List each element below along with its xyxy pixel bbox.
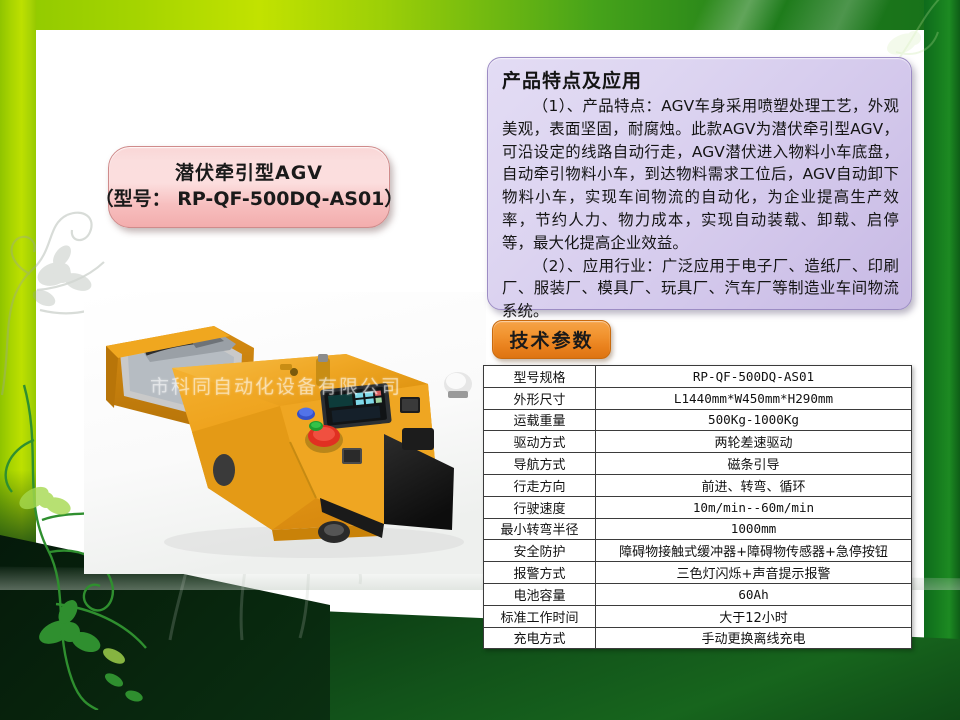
- spec-table-row: 电池容量60Ah: [484, 583, 912, 605]
- photo-watermark: 市科同自动化设备有限公司: [150, 372, 490, 398]
- spec-key-cell: 报警方式: [484, 562, 596, 584]
- spec-key-cell: 导航方式: [484, 453, 596, 475]
- spec-table: 型号规格RP-QF-500DQ-AS01外形尺寸L1440mm*W450mm*H…: [483, 365, 912, 649]
- spec-value-cell: 障碍物接触式缓冲器+障碍物传感器+急停按钮: [596, 540, 912, 562]
- spec-table-row: 驱动方式两轮差速驱动: [484, 431, 912, 453]
- slide-canvas: 潜伏牵引型AGV （型号： RP-QF-500DQ-AS01）: [0, 0, 960, 720]
- spec-value-cell: 两轮差速驱动: [596, 431, 912, 453]
- spec-value-cell: 10m/min--60m/min: [596, 496, 912, 518]
- spec-key-cell: 充电方式: [484, 627, 596, 649]
- spec-table-row: 外形尺寸L1440mm*W450mm*H290mm: [484, 387, 912, 409]
- spec-key-cell: 最小转弯半径: [484, 518, 596, 540]
- spec-table-row: 运载重量500Kg-1000Kg: [484, 409, 912, 431]
- spec-value-cell: 磁条引导: [596, 453, 912, 475]
- spec-key-cell: 电池容量: [484, 583, 596, 605]
- top-band-sheen: [560, 0, 960, 30]
- product-title-line1: 潜伏牵引型AGV: [175, 161, 323, 187]
- spec-table-row: 最小转弯半径1000mm: [484, 518, 912, 540]
- spec-value-cell: 大于12小时: [596, 605, 912, 627]
- spec-value-cell: RP-QF-500DQ-AS01: [596, 366, 912, 388]
- spec-table-row: 行走方向前进、转弯、循环: [484, 474, 912, 496]
- spec-table-row: 报警方式三色灯闪烁+声音提示报警: [484, 562, 912, 584]
- spec-section-badge: 技术参数: [492, 320, 611, 359]
- product-title-plate: 潜伏牵引型AGV （型号： RP-QF-500DQ-AS01）: [108, 146, 390, 228]
- spec-value-cell: 1000mm: [596, 518, 912, 540]
- spec-value-cell: 三色灯闪烁+声音提示报警: [596, 562, 912, 584]
- spec-key-cell: 行驶速度: [484, 496, 596, 518]
- spec-value-cell: 手动更换离线充电: [596, 627, 912, 649]
- right-green-band: [924, 0, 960, 720]
- product-features-box: 产品特点及应用 （1）、产品特点：AGV车身采用喷塑处理工艺，外观美观，表面坚固…: [487, 57, 912, 310]
- spec-table-body: 型号规格RP-QF-500DQ-AS01外形尺寸L1440mm*W450mm*H…: [484, 366, 912, 649]
- spec-table-row: 导航方式磁条引导: [484, 453, 912, 475]
- features-heading: 产品特点及应用: [502, 66, 899, 93]
- spec-table-row: 安全防护障碍物接触式缓冲器+障碍物传感器+急停按钮: [484, 540, 912, 562]
- spec-key-cell: 标准工作时间: [484, 605, 596, 627]
- spec-table-row: 行驶速度10m/min--60m/min: [484, 496, 912, 518]
- features-paragraph-2: （2）、应用行业：广泛应用于电子厂、造纸厂、印刷厂、服装厂、模具厂、玩具厂、汽车…: [502, 255, 899, 323]
- spec-key-cell: 行走方向: [484, 474, 596, 496]
- spec-table-row: 标准工作时间大于12小时: [484, 605, 912, 627]
- spec-key-cell: 驱动方式: [484, 431, 596, 453]
- features-paragraph-1: （1）、产品特点：AGV车身采用喷塑处理工艺，外观美观，表面坚固，耐腐烛。此款A…: [502, 95, 899, 255]
- spec-value-cell: 前进、转弯、循环: [596, 474, 912, 496]
- spec-value-cell: 500Kg-1000Kg: [596, 409, 912, 431]
- spec-key-cell: 型号规格: [484, 366, 596, 388]
- product-title-line2: （型号： RP-QF-500DQ-AS01）: [95, 187, 404, 213]
- spec-key-cell: 运载重量: [484, 409, 596, 431]
- spec-key-cell: 安全防护: [484, 540, 596, 562]
- spec-value-cell: 60Ah: [596, 583, 912, 605]
- spec-value-cell: L1440mm*W450mm*H290mm: [596, 387, 912, 409]
- agv-product-photo: [84, 292, 486, 574]
- spec-key-cell: 外形尺寸: [484, 387, 596, 409]
- spec-table-row: 型号规格RP-QF-500DQ-AS01: [484, 366, 912, 388]
- spec-table-row: 充电方式手动更换离线充电: [484, 627, 912, 649]
